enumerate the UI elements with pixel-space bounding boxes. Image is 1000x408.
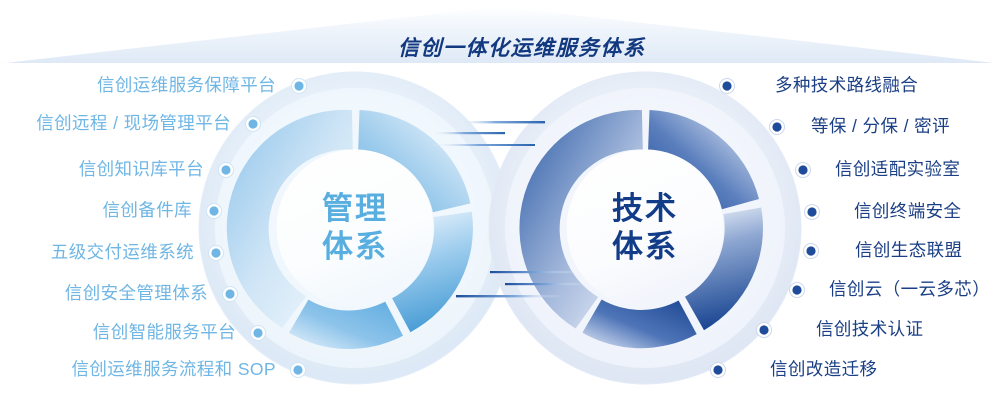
left-center-line-2: 体系 [285,228,425,266]
right-label-2[interactable]: 信创适配实验室 [835,161,960,179]
left-label-6[interactable]: 信创智能服务平台 [93,324,236,342]
right-label-3[interactable]: 信创终端安全 [854,203,961,221]
right-label-1[interactable]: 等保 / 分保 / 密评 [811,118,950,136]
left-label-2[interactable]: 信创知识库平台 [79,161,204,179]
left-label-5[interactable]: 信创安全管理体系 [65,285,208,303]
right-node-dot-5[interactable] [792,285,801,294]
left-node-dot-3[interactable] [209,206,218,215]
diagram-canvas: 信创一体化运维服务体系 管理 体系 技术 体系 信创运维服务保障平台信创远程 /… [0,0,1000,408]
left-center-line-1: 管理 [285,190,425,228]
right-node-dot-2[interactable] [798,165,807,174]
left-node-dot-7[interactable] [293,365,302,374]
left-node-dot-2[interactable] [221,165,230,174]
right-label-4[interactable]: 信创生态联盟 [855,242,962,260]
left-circle-center-label: 管理 体系 [285,190,425,266]
right-node-dot-4[interactable] [806,246,815,255]
right-center-line-1: 技术 [575,190,715,228]
left-label-0[interactable]: 信创运维服务保障平台 [97,77,276,95]
left-label-4[interactable]: 五级交付运维系统 [51,244,194,262]
right-node-dot-7[interactable] [713,365,722,374]
right-label-0[interactable]: 多种技术路线融合 [775,77,918,95]
right-node-dot-6[interactable] [759,325,768,334]
left-node-dot-0[interactable] [294,81,303,90]
left-node-dot-1[interactable] [248,119,257,128]
right-label-6[interactable]: 信创技术认证 [816,321,923,339]
left-label-1[interactable]: 信创远程 / 现场管理平台 [36,115,231,133]
left-label-7[interactable]: 信创运维服务流程和 SOP [71,361,276,379]
right-label-7[interactable]: 信创改造迁移 [770,361,877,379]
right-circle-center-label: 技术 体系 [575,190,715,266]
right-node-dot-3[interactable] [807,207,816,216]
right-label-5[interactable]: 信创云（一云多芯） [829,281,990,299]
left-label-3[interactable]: 信创备件库 [103,202,193,220]
right-node-dot-0[interactable] [722,81,731,90]
left-node-dot-5[interactable] [225,289,234,298]
left-node-dot-4[interactable] [211,248,220,257]
right-node-dot-1[interactable] [772,122,781,131]
left-node-dot-6[interactable] [253,328,262,337]
right-center-line-2: 体系 [575,228,715,266]
page-title: 信创一体化运维服务体系 [398,32,646,62]
